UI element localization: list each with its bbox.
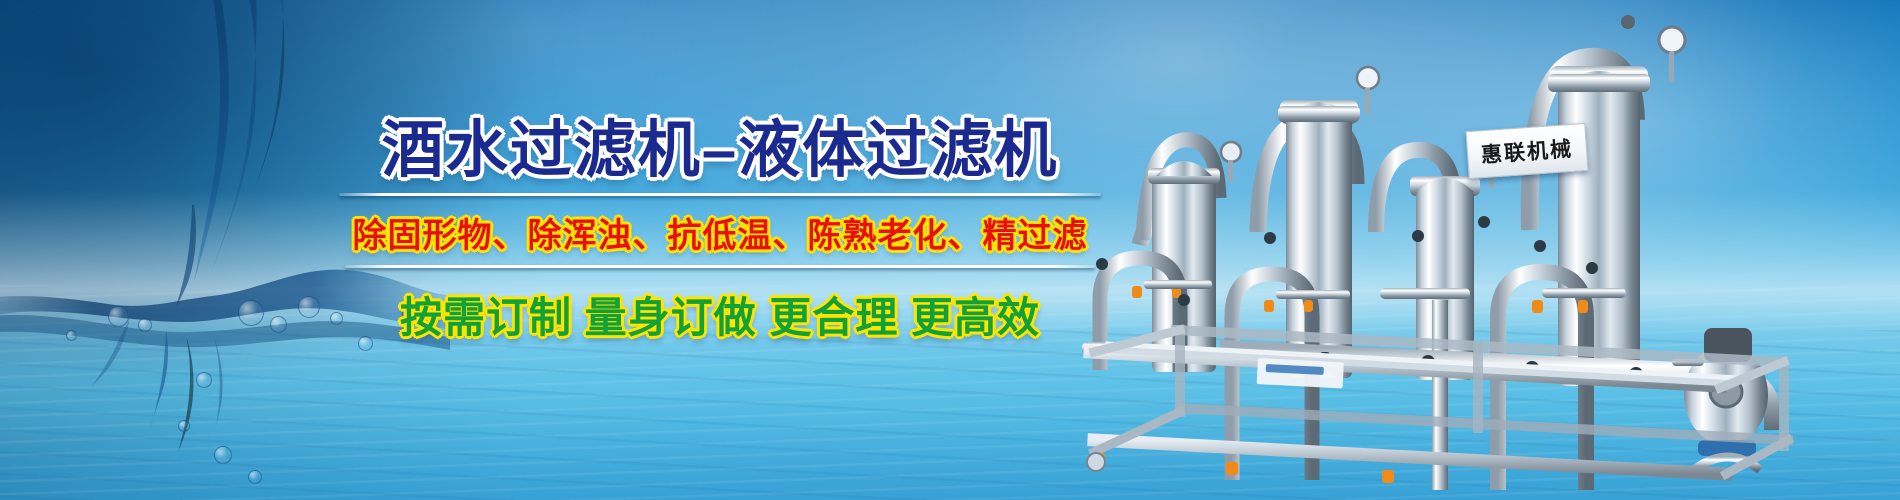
banner-copy: 酒水过滤机–液体过滤机 除固形物、除浑浊、抗低温、陈熟老化、精过滤 按需订制 量… [330,118,1110,345]
banner-headline: 酒水过滤机–液体过滤机 [330,118,1110,183]
water-bubble [108,306,129,327]
water-bubble [196,372,212,388]
banner-tagline: 按需订制 量身订做 更合理 更高效 [330,284,1110,345]
divider-top [339,193,1101,196]
divider-bottom [345,265,1095,268]
brand-name-plate: 惠联机械 [1465,123,1588,179]
water-ripple-layer-2 [0,330,1900,500]
water-bubble [298,296,320,318]
water-bubble [248,470,262,484]
water-bubble [238,300,264,326]
water-bubble [214,446,232,464]
promo-banner: 酒水过滤机–液体过滤机 除固形物、除浑浊、抗低温、陈熟老化、精过滤 按需订制 量… [0,0,1900,500]
water-bubble [270,316,287,333]
filter-machine-image [1080,0,1900,500]
brand-name-plate-text: 惠联机械 [1480,133,1574,169]
water-bubble [178,420,190,432]
water-bubble [66,330,77,341]
banner-subtitle: 除固形物、除浑浊、抗低温、陈熟老化、精过滤 [330,208,1110,257]
water-bubble [138,318,152,332]
